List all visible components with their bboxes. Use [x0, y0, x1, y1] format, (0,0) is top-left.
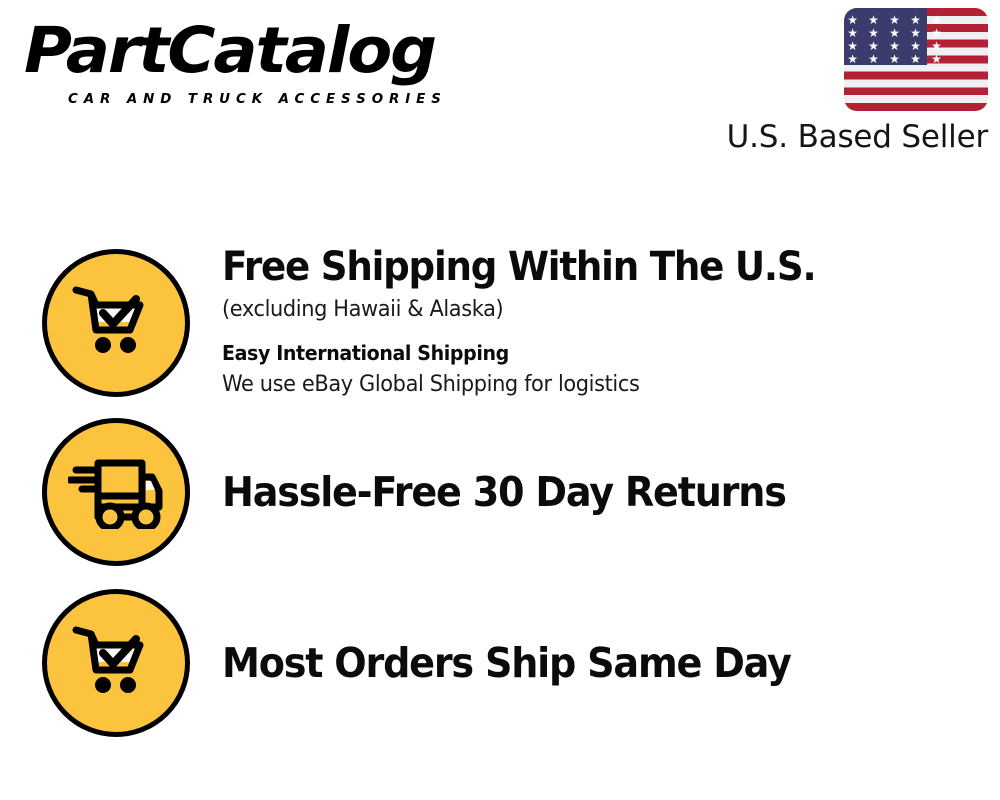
- feature-subtitle-secondary: We use eBay Global Shipping for logistic…: [222, 369, 961, 401]
- feature-text-block: Free Shipping Within The U.S. (excluding…: [222, 244, 1000, 401]
- us-flag-icon: ★ ★ ★ ★ ★ ★ ★ ★ ★ ★ ★ ★ ★ ★ ★ ★ ★ ★ ★ ★: [844, 8, 988, 111]
- feature-text-block: Hassle-Free 30 Day Returns: [222, 468, 1000, 516]
- feature-title: Free Shipping Within The U.S.: [222, 244, 946, 290]
- shopping-cart-check-icon: [42, 589, 190, 737]
- page-header: PartCatalog CAR AND TRUCK ACCESSORIES ★ …: [0, 0, 1000, 165]
- feature-row: Most Orders Ship Same Day: [0, 588, 1000, 738]
- us-based-seller-badge: ★ ★ ★ ★ ★ ★ ★ ★ ★ ★ ★ ★ ★ ★ ★ ★ ★ ★ ★ ★ …: [698, 8, 988, 154]
- feature-row: Free Shipping Within The U.S. (excluding…: [0, 225, 1000, 420]
- flag-star-row: ★ ★ ★ ★ ★: [844, 40, 927, 52]
- feature-title: Hassle-Free 30 Day Returns: [222, 468, 946, 516]
- us-based-seller-label: U.S. Based Seller: [698, 120, 988, 154]
- flag-star-row: ★ ★ ★ ★ ★: [844, 14, 927, 26]
- brand-wordmark: PartCatalog: [24, 18, 513, 84]
- flag-canton: ★ ★ ★ ★ ★ ★ ★ ★ ★ ★ ★ ★ ★ ★ ★ ★ ★ ★ ★ ★: [844, 8, 927, 65]
- feature-text-block: Most Orders Ship Same Day: [222, 639, 1000, 687]
- brand-tagline: CAR AND TRUCK ACCESSORIES: [68, 91, 447, 107]
- feature-subtitle: (excluding Hawaii & Alaska): [222, 294, 961, 326]
- flag-star-row: ★ ★ ★ ★ ★: [844, 27, 927, 39]
- brand-logo[interactable]: PartCatalog CAR AND TRUCK ACCESSORIES: [24, 18, 494, 118]
- feature-subtitle-bold: Easy International Shipping: [222, 338, 961, 368]
- feature-row: Hassle-Free 30 Day Returns: [0, 417, 1000, 567]
- shopping-cart-check-icon: [42, 249, 190, 397]
- delivery-truck-icon: [42, 418, 190, 566]
- feature-title: Most Orders Ship Same Day: [222, 639, 946, 687]
- flag-star-row: ★ ★ ★ ★ ★: [844, 53, 927, 65]
